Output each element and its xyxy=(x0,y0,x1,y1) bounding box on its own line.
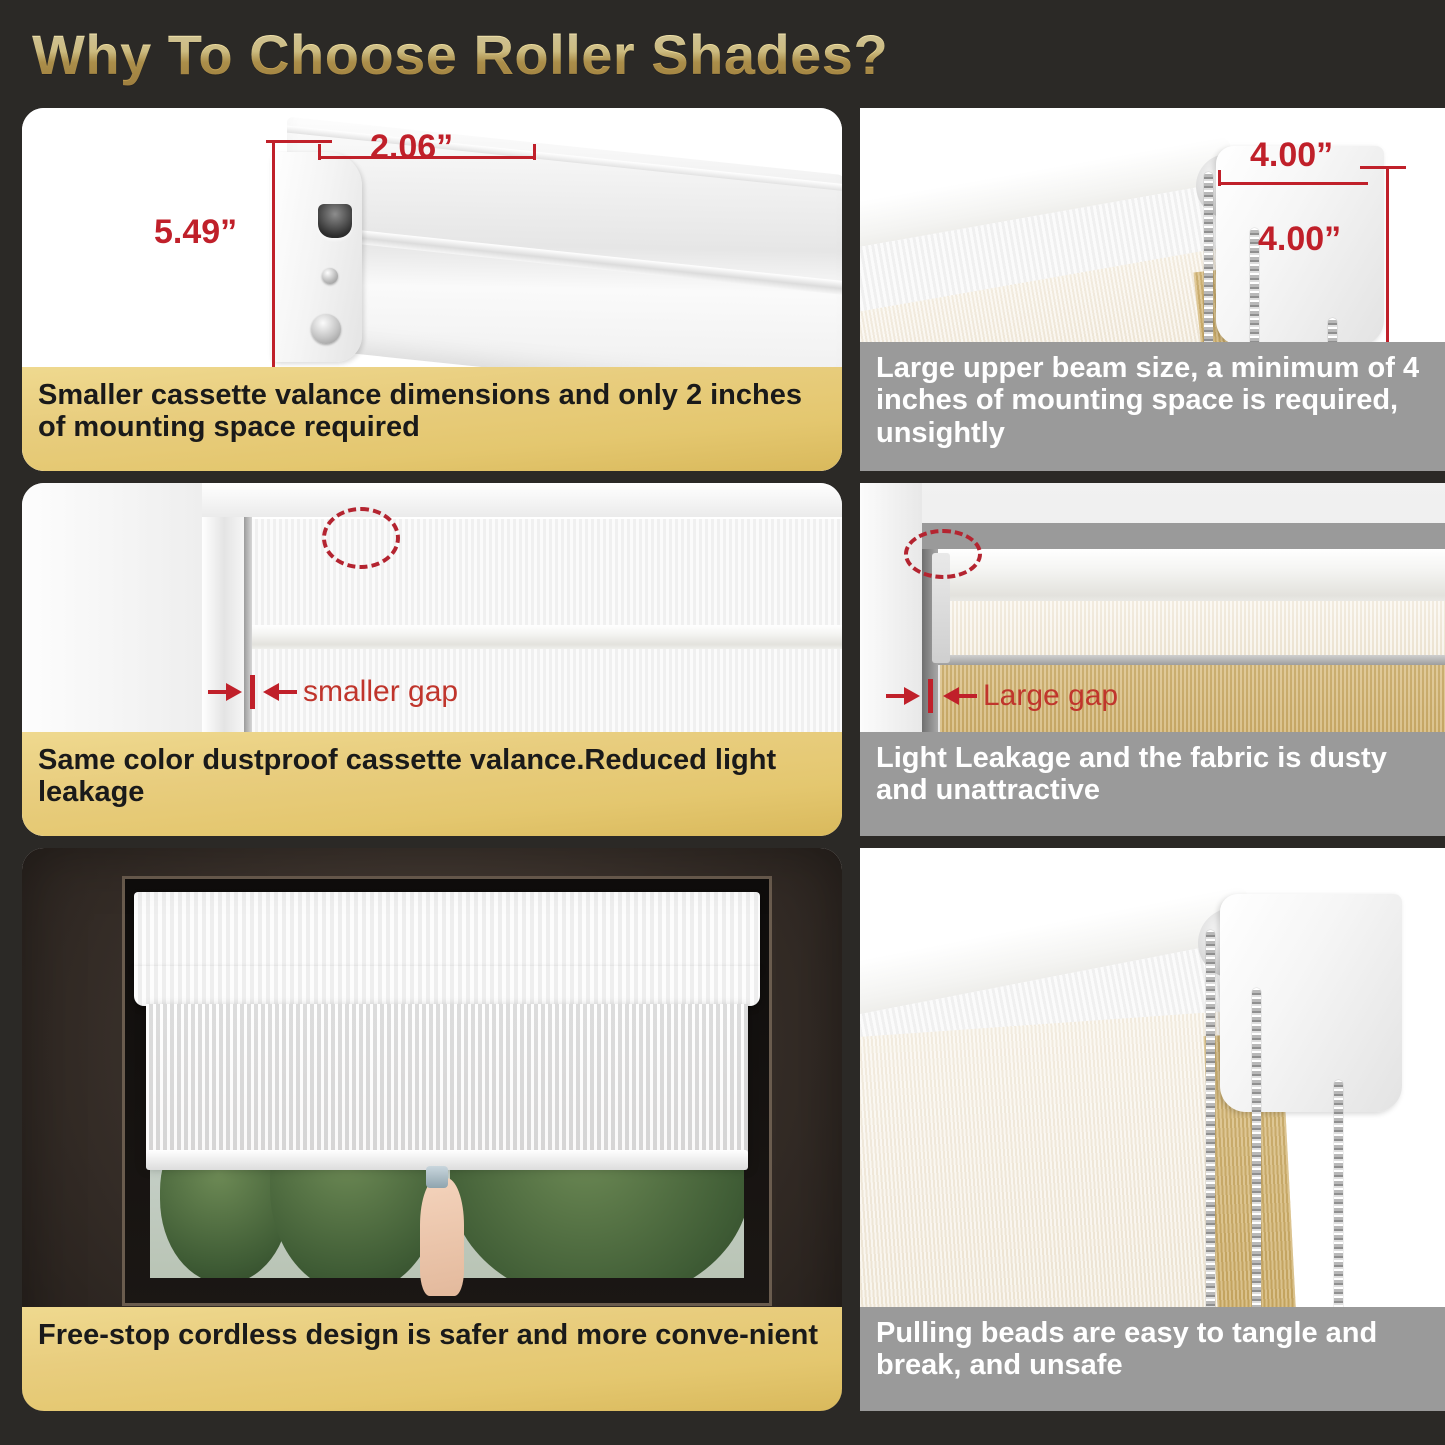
panel-free-stop-cordless: Free-stop cordless design is safer and m… xyxy=(22,848,860,1423)
beam-width-label: 4.00” xyxy=(1250,136,1333,175)
panel-caption: Pulling beads are easy to tangle and bre… xyxy=(860,1307,1445,1411)
beam-width-tick-left xyxy=(1218,170,1221,186)
valance-lip xyxy=(134,966,760,1006)
panel-caption: Large upper beam size, a minimum of 4 in… xyxy=(860,342,1445,471)
panel-caption: Smaller cassette valance dimensions and … xyxy=(22,367,842,471)
smaller-gap-annotation: smaller gap xyxy=(208,675,458,709)
panel-body: 4.00” 4.00” Large upper beam size, a min… xyxy=(860,108,1445,471)
bead-chain-left xyxy=(1206,930,1215,1350)
screw-upper xyxy=(322,268,338,284)
width-dim-tick-right xyxy=(533,144,536,160)
beam-height-tick-top xyxy=(1360,166,1406,169)
panel-large-upper-beam: 4.00” 4.00” Large upper beam size, a min… xyxy=(860,108,1445,483)
beam-height-label: 4.00” xyxy=(1258,220,1341,259)
arrow-right-icon xyxy=(904,687,920,705)
window-frame-top xyxy=(202,483,842,517)
width-dimension-label: 2.06” xyxy=(370,128,453,167)
panel-pulling-beads-unsafe: Pulling beads are easy to tangle and bre… xyxy=(860,848,1445,1423)
valance-slot xyxy=(318,204,352,238)
highlight-circle xyxy=(904,529,982,579)
cassette-valance xyxy=(134,892,760,970)
page-header: Why To Choose Roller Shades? xyxy=(0,0,1445,108)
panel-caption: Light Leakage and the fabric is dusty an… xyxy=(860,732,1445,836)
highlight-circle xyxy=(322,507,400,569)
gap-marker xyxy=(928,679,933,713)
page-title: Why To Choose Roller Shades? xyxy=(32,22,888,87)
panel-body: Pulling beads are easy to tangle and bre… xyxy=(860,848,1445,1411)
beam-height-line xyxy=(1386,166,1389,366)
shade-fabric xyxy=(146,1004,748,1164)
height-dim-tick-top xyxy=(266,140,332,143)
fabric-cream-band xyxy=(934,601,1445,657)
panel-body: 2.06” 5.49” Smaller cassette valance dim… xyxy=(22,108,842,471)
width-dim-tick-left xyxy=(318,144,321,160)
gap-label: smaller gap xyxy=(303,675,458,709)
comparison-grid: 2.06” 5.49” Smaller cassette valance dim… xyxy=(0,108,1445,1445)
pull-handle xyxy=(426,1166,448,1188)
gap-marker xyxy=(250,675,255,709)
arrow-left-icon xyxy=(943,687,959,705)
beam-width-line xyxy=(1218,182,1368,185)
arrow-right-icon xyxy=(226,683,242,701)
panel-caption: Same color dustproof cassette valance.Re… xyxy=(22,732,842,836)
panel-caption: Free-stop cordless design is safer and m… xyxy=(22,1307,842,1411)
bead-chain-mid xyxy=(1252,988,1261,1350)
panel-body: Free-stop cordless design is safer and m… xyxy=(22,848,842,1411)
panel-dustproof-cassette-valance: smaller gap Same color dustproof cassett… xyxy=(22,483,860,848)
screw-lower xyxy=(311,314,341,344)
valance-lip xyxy=(246,625,842,651)
mounting-bracket xyxy=(1220,894,1402,1112)
bottom-rail xyxy=(934,655,1445,665)
panel-light-leakage: Large gap Light Leakage and the fabric i… xyxy=(860,483,1445,848)
panel-body: smaller gap Same color dustproof cassett… xyxy=(22,483,842,836)
arrow-left-icon xyxy=(263,683,279,701)
hand xyxy=(420,1178,464,1296)
panel-body: Large gap Light Leakage and the fabric i… xyxy=(860,483,1445,836)
gap-label: Large gap xyxy=(983,679,1118,713)
large-gap-annotation: Large gap xyxy=(886,679,1118,713)
panel-cassette-valance-dimensions: 2.06” 5.49” Smaller cassette valance dim… xyxy=(22,108,860,483)
height-dimension-label: 5.49” xyxy=(154,213,237,252)
valance-side-edge xyxy=(244,517,252,759)
